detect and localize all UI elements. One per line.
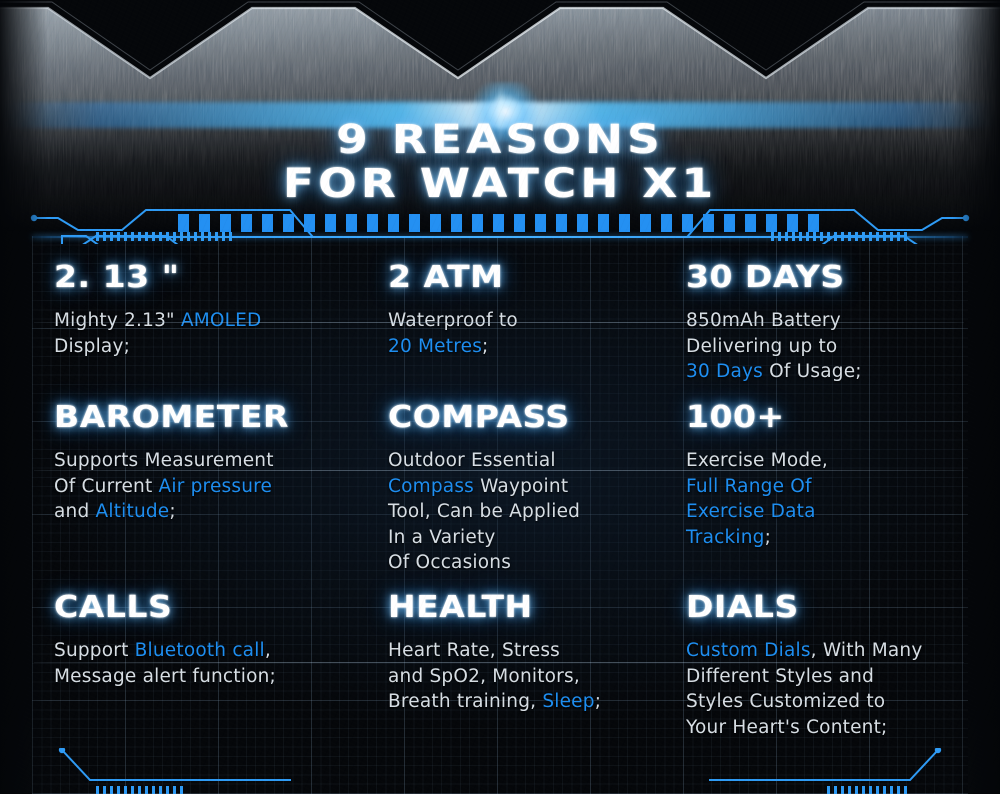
feature-dials: DIALS Custom Dials, With Many Different … — [680, 578, 968, 794]
body-text: ; — [595, 691, 601, 712]
highlight-text: Tracking — [686, 527, 765, 548]
body-text: Heart Rate, Stress — [388, 640, 560, 661]
highlight-text: Air pressure — [159, 476, 273, 497]
body-text: , With Many — [811, 640, 923, 661]
feature-heading: HEALTH — [388, 592, 700, 624]
feature-body: Support Bluetooth call,Message alert fun… — [54, 638, 372, 689]
body-text: Breath training, — [388, 691, 542, 712]
row-rule-2 — [34, 470, 964, 471]
row-rule-3 — [34, 662, 964, 663]
body-text: Of Usage; — [763, 361, 862, 382]
feature-heading: 2 ATM — [388, 262, 700, 294]
feature-list: 2. 13 " Mighty 2.13" AMOLEDDisplay; 2 AT… — [32, 248, 968, 794]
body-text: Of Occasions — [388, 552, 511, 573]
body-text: Supports Measurement — [54, 450, 274, 471]
feature-body: Outdoor EssentialCompass WaypointTool, C… — [388, 448, 672, 576]
body-text: Outdoor Essential — [388, 450, 556, 471]
feature-body: 850mAh BatteryDelivering up to30 Days Of… — [686, 308, 960, 385]
feature-waterproof: 2 ATM Waterproof to20 Metres; — [380, 248, 680, 388]
feature-heading: 30 DAYS — [686, 262, 987, 294]
body-text: Waypoint — [474, 476, 568, 497]
feature-exercise-modes: 100+ Exercise Mode,Full Range OfExercise… — [680, 388, 968, 578]
body-text: and SpO2, Monitors, — [388, 666, 580, 687]
body-text: Display; — [54, 336, 130, 357]
feature-body: Waterproof to20 Metres; — [388, 308, 672, 359]
feature-heading: 100+ — [686, 402, 987, 434]
feature-battery: 30 DAYS 850mAh BatteryDelivering up to30… — [680, 248, 968, 388]
highlight-text: Sleep — [542, 691, 594, 712]
feature-heading: DIALS — [686, 592, 987, 624]
highlight-text: Altitude — [96, 501, 170, 522]
feature-body: Supports MeasurementOf Current Air press… — [54, 448, 372, 525]
feature-heading: 2. 13 " — [54, 262, 404, 294]
body-text: 850mAh Battery — [686, 310, 841, 331]
highlight-text: 20 Metres — [388, 336, 482, 357]
feature-display: 2. 13 " Mighty 2.13" AMOLEDDisplay; — [32, 248, 380, 388]
highlight-text: 30 Days — [686, 361, 763, 382]
body-text: ; — [482, 336, 488, 357]
highlight-text: Exercise Data — [686, 501, 816, 522]
panel-top-rule — [32, 236, 968, 238]
highlight-text: Full Range Of — [686, 476, 812, 497]
body-text: Of Current — [54, 476, 159, 497]
body-text: Mighty 2.13" — [54, 310, 181, 331]
body-text: Waterproof to — [388, 310, 518, 331]
feature-body: Heart Rate, Stressand SpO2, Monitors,Bre… — [388, 638, 672, 715]
row-rule-1 — [34, 322, 964, 323]
highlight-text: Bluetooth call — [135, 640, 265, 661]
body-text: Message alert function; — [54, 666, 276, 687]
body-text: Tool, Can be Applied — [388, 501, 580, 522]
feature-body: Mighty 2.13" AMOLEDDisplay; — [54, 308, 372, 359]
body-text: Delivering up to — [686, 336, 837, 357]
body-text: Styles Customized to — [686, 691, 885, 712]
body-text: ; — [765, 527, 771, 548]
promo-page: 9 REASONS FOR WATCH X1 — [0, 0, 1000, 794]
highlight-text: Compass — [388, 476, 474, 497]
feature-body: Exercise Mode,Full Range OfExercise Data… — [686, 448, 960, 550]
feature-heading: CALLS — [54, 592, 404, 624]
feature-barometer: BAROMETER Supports MeasurementOf Current… — [32, 388, 380, 578]
feature-calls: CALLS Support Bluetooth call,Message ale… — [32, 578, 380, 794]
feature-health: HEALTH Heart Rate, Stressand SpO2, Monit… — [380, 578, 680, 794]
highlight-text: AMOLED — [181, 310, 262, 331]
body-text: Different Styles and — [686, 666, 874, 687]
page-title: 9 REASONS FOR WATCH X1 — [0, 118, 1000, 206]
feature-heading: BAROMETER — [54, 402, 404, 434]
feature-heading: COMPASS — [388, 402, 700, 434]
title-line-1: 9 REASONS — [0, 118, 1000, 162]
body-text: In a Variety — [388, 527, 496, 548]
body-text: Exercise Mode, — [686, 450, 828, 471]
body-text: ; — [169, 501, 175, 522]
body-text: , — [265, 640, 271, 661]
body-text: and — [54, 501, 96, 522]
body-text: Your Heart's Content; — [686, 717, 887, 738]
feature-body: Custom Dials, With Many Different Styles… — [686, 638, 960, 740]
highlight-text: Custom Dials — [686, 640, 811, 661]
body-text: Support — [54, 640, 135, 661]
feature-compass: COMPASS Outdoor EssentialCompass Waypoin… — [380, 388, 680, 578]
